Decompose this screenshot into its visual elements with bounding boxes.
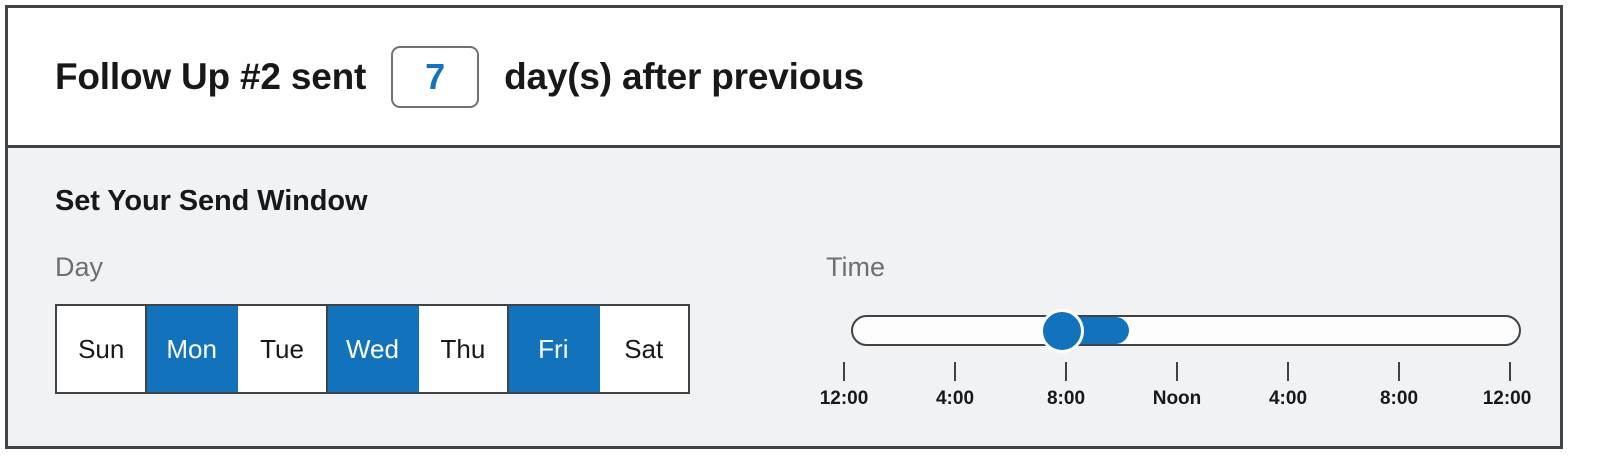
tick-label-2: 8:00 — [1047, 388, 1085, 410]
day-selector-block: Day Sun Mon Tue Wed Thu Fri Sat — [55, 252, 690, 394]
followup-days-input[interactable] — [391, 46, 479, 108]
tick-mark — [954, 362, 956, 381]
tick-label-4: 4:00 — [1269, 388, 1307, 410]
send-window-title: Set Your Send Window — [55, 185, 367, 218]
tick-label-5: 8:00 — [1380, 388, 1418, 410]
tick-label-3: Noon — [1153, 388, 1202, 410]
send-window-panel: Set Your Send Window Day Sun Mon Tue Wed… — [8, 148, 1560, 446]
day-option-thu[interactable]: Thu — [419, 306, 509, 392]
tick-mark — [843, 362, 845, 381]
day-toggle-group[interactable]: Sun Mon Tue Wed Thu Fri Sat — [55, 304, 690, 394]
followup-label: Follow Up #2 sent — [55, 56, 366, 98]
tick-mark — [1176, 362, 1178, 381]
time-slider[interactable] — [826, 309, 1526, 353]
day-option-sun[interactable]: Sun — [57, 306, 147, 392]
followup-delay-row: Follow Up #2 sent day(s) after previous — [8, 46, 864, 108]
followup-suffix-label: day(s) after previous — [504, 56, 864, 98]
time-slider-track[interactable] — [851, 315, 1521, 346]
tick-mark — [1509, 362, 1511, 381]
tick-label-6: 12:00 — [1483, 388, 1532, 410]
tick-label-0: 12:00 — [820, 388, 869, 410]
tick-label-1: 4:00 — [936, 388, 974, 410]
day-option-mon[interactable]: Mon — [147, 306, 237, 392]
day-option-tue[interactable]: Tue — [238, 306, 328, 392]
time-slider-handle[interactable] — [1040, 309, 1084, 353]
followup-delay-section: Follow Up #2 sent day(s) after previous — [8, 8, 1560, 148]
time-field-label: Time — [826, 252, 1526, 283]
time-tick-marks — [826, 362, 1526, 384]
day-option-wed[interactable]: Wed — [328, 306, 418, 392]
tick-mark — [1398, 362, 1400, 381]
send-schedule-card: Follow Up #2 sent day(s) after previous … — [5, 5, 1563, 449]
day-field-label: Day — [55, 252, 690, 283]
time-tick-labels: 12:00 4:00 8:00 Noon 4:00 8:00 12:00 — [826, 388, 1526, 414]
tick-mark — [1287, 362, 1289, 381]
tick-mark — [1065, 362, 1067, 381]
day-option-fri[interactable]: Fri — [509, 306, 599, 392]
time-slider-block: Time 12:00 4:00 8:00 Noon 4:00 — [826, 252, 1526, 414]
day-option-sat[interactable]: Sat — [600, 306, 688, 392]
